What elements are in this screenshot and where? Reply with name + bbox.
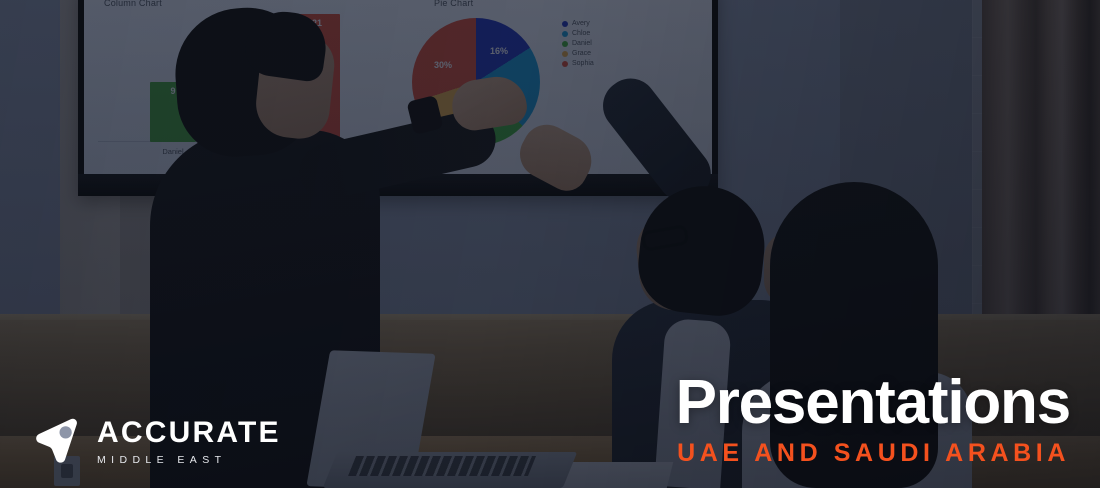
presentations-hero-banner: Column Chart 9 Daniel 14 Grace 21 Sophia <box>0 0 1100 488</box>
brand-logo[interactable]: ACCURATE MIDDLE EAST <box>28 414 281 470</box>
logo-name: ACCURATE <box>97 418 281 448</box>
headline-block: Presentations UAE AND SAUDI ARABIA <box>676 371 1070 466</box>
logo-tagline: MIDDLE EAST <box>97 455 281 466</box>
page-title: Presentations <box>676 371 1070 434</box>
arrow-location-pin-icon <box>28 414 84 470</box>
page-subtitle: UAE AND SAUDI ARABIA <box>676 441 1070 466</box>
logo-wordmark: ACCURATE MIDDLE EAST <box>97 418 281 466</box>
